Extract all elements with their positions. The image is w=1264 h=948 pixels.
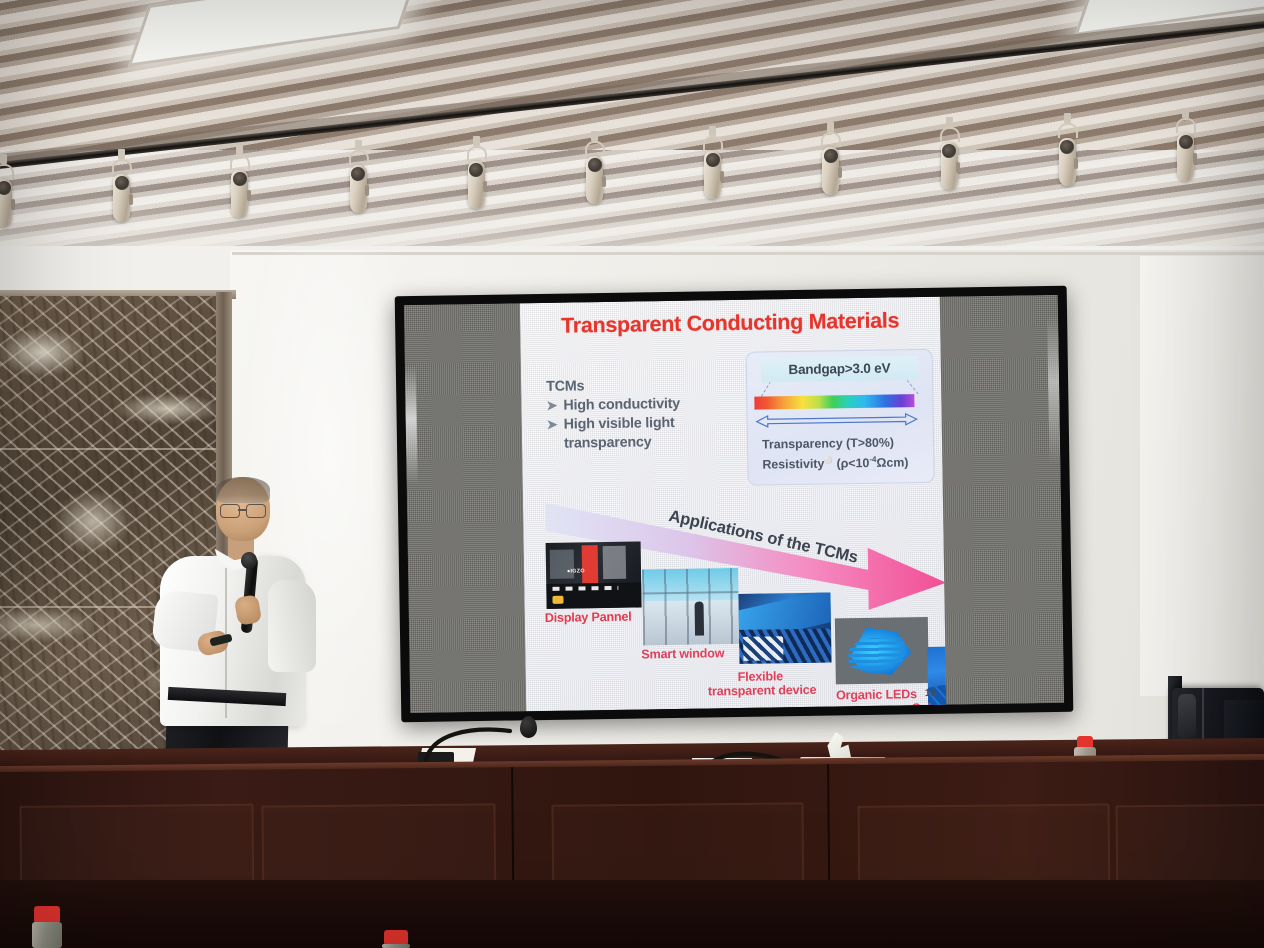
- track-spotlight: [585, 131, 604, 204]
- bullet-item: ➤ High visible light: [547, 414, 681, 435]
- resistivity-unit: Ωcm): [876, 455, 908, 470]
- track-spotlight: [1058, 113, 1077, 186]
- presentation-slide: Transparent Conducting Materials TCMs ➤ …: [520, 297, 946, 712]
- display-inactive-right: [940, 295, 1064, 705]
- bullet-continuation: transparency: [547, 433, 681, 454]
- presenter-right-arm: [268, 580, 316, 672]
- visible-spectrum-bar: [754, 394, 914, 410]
- resistivity-value: (ρ<10: [836, 455, 869, 470]
- slide-number: 10: [925, 688, 936, 699]
- display-inactive-left: [404, 303, 526, 713]
- track-spotlight: [230, 145, 249, 218]
- eyeglasses-icon: [220, 504, 268, 517]
- caption-transparent-device: transparent device: [708, 683, 817, 699]
- caption-display-panel: Display Pannel: [545, 610, 632, 626]
- resistivity-label: Resistivity: [762, 456, 824, 471]
- bezel-glare: [405, 365, 418, 485]
- bandgap-properties: Transparency (T>80%) Resistivity⚪ (ρ<10-…: [762, 434, 909, 472]
- led-display: Transparent Conducting Materials TCMs ➤ …: [395, 286, 1074, 723]
- slide-bullet-list: TCMs ➤ High conductivity ➤ High visible …: [546, 376, 681, 454]
- caption-smart-window: Smart window: [641, 646, 724, 662]
- bandgap-box: Bandgap>3.0 eV Transparency (T>80%) Resi…: [746, 349, 935, 486]
- right-wall-panel: [1140, 256, 1264, 696]
- resistivity-line: Resistivity⚪ (ρ<10-4Ωcm): [762, 451, 908, 473]
- bandgap-caption-text: Bandgap>3.0 eV: [761, 356, 918, 382]
- caption-solar-cells: Solar cells: [912, 700, 946, 711]
- track-spotlight: [703, 126, 722, 199]
- thumbnail-flexible-device: [738, 592, 831, 663]
- bullet-arrow-icon: ➤: [546, 396, 557, 415]
- bandgap-caption: Bandgap>3.0 eV: [761, 356, 918, 382]
- water-bottle: [32, 906, 62, 948]
- bullet-item: ➤ High conductivity: [546, 395, 680, 416]
- track-spotlight: [349, 140, 368, 213]
- thumbnail-display-panel: ●IGZO: [546, 541, 642, 608]
- track-spotlight: [940, 117, 959, 190]
- slide-title: Transparent Conducting Materials: [561, 308, 899, 338]
- track-spotlight: [0, 154, 13, 227]
- water-bottle: [382, 930, 410, 948]
- resistivity-marker-icon: ⚪: [824, 457, 833, 464]
- bullet-text: High visible light: [564, 415, 675, 433]
- wall-seam: [232, 252, 1264, 255]
- double-arrow-icon: [754, 412, 920, 429]
- lecture-hall-photo: Transparent Conducting Materials TCMs ➤ …: [0, 0, 1264, 948]
- bullets-heading: TCMs: [546, 378, 584, 395]
- caption-flexible: Flexible: [738, 669, 784, 684]
- track-spotlight: [467, 136, 486, 209]
- track-spotlight: [821, 122, 840, 195]
- track-spotlight: [112, 149, 131, 222]
- igzo-badge: ●IGZO: [567, 568, 603, 577]
- display-screen: Transparent Conducting Materials TCMs ➤ …: [404, 295, 1064, 713]
- track-spotlight: [1176, 108, 1195, 181]
- thumbnail-smart-window: [642, 568, 739, 645]
- thumbnail-organic-leds: [835, 617, 929, 684]
- caption-organic-leds: Organic LEDs: [836, 687, 917, 703]
- bullet-arrow-icon: ➤: [547, 415, 558, 434]
- bullet-text: High conductivity: [563, 396, 680, 414]
- bezel-glare: [1047, 315, 1060, 465]
- presenter-hair: [216, 477, 270, 503]
- foreground-shadow: [0, 880, 1264, 948]
- transparency-line: Transparency (T>80%): [762, 434, 908, 453]
